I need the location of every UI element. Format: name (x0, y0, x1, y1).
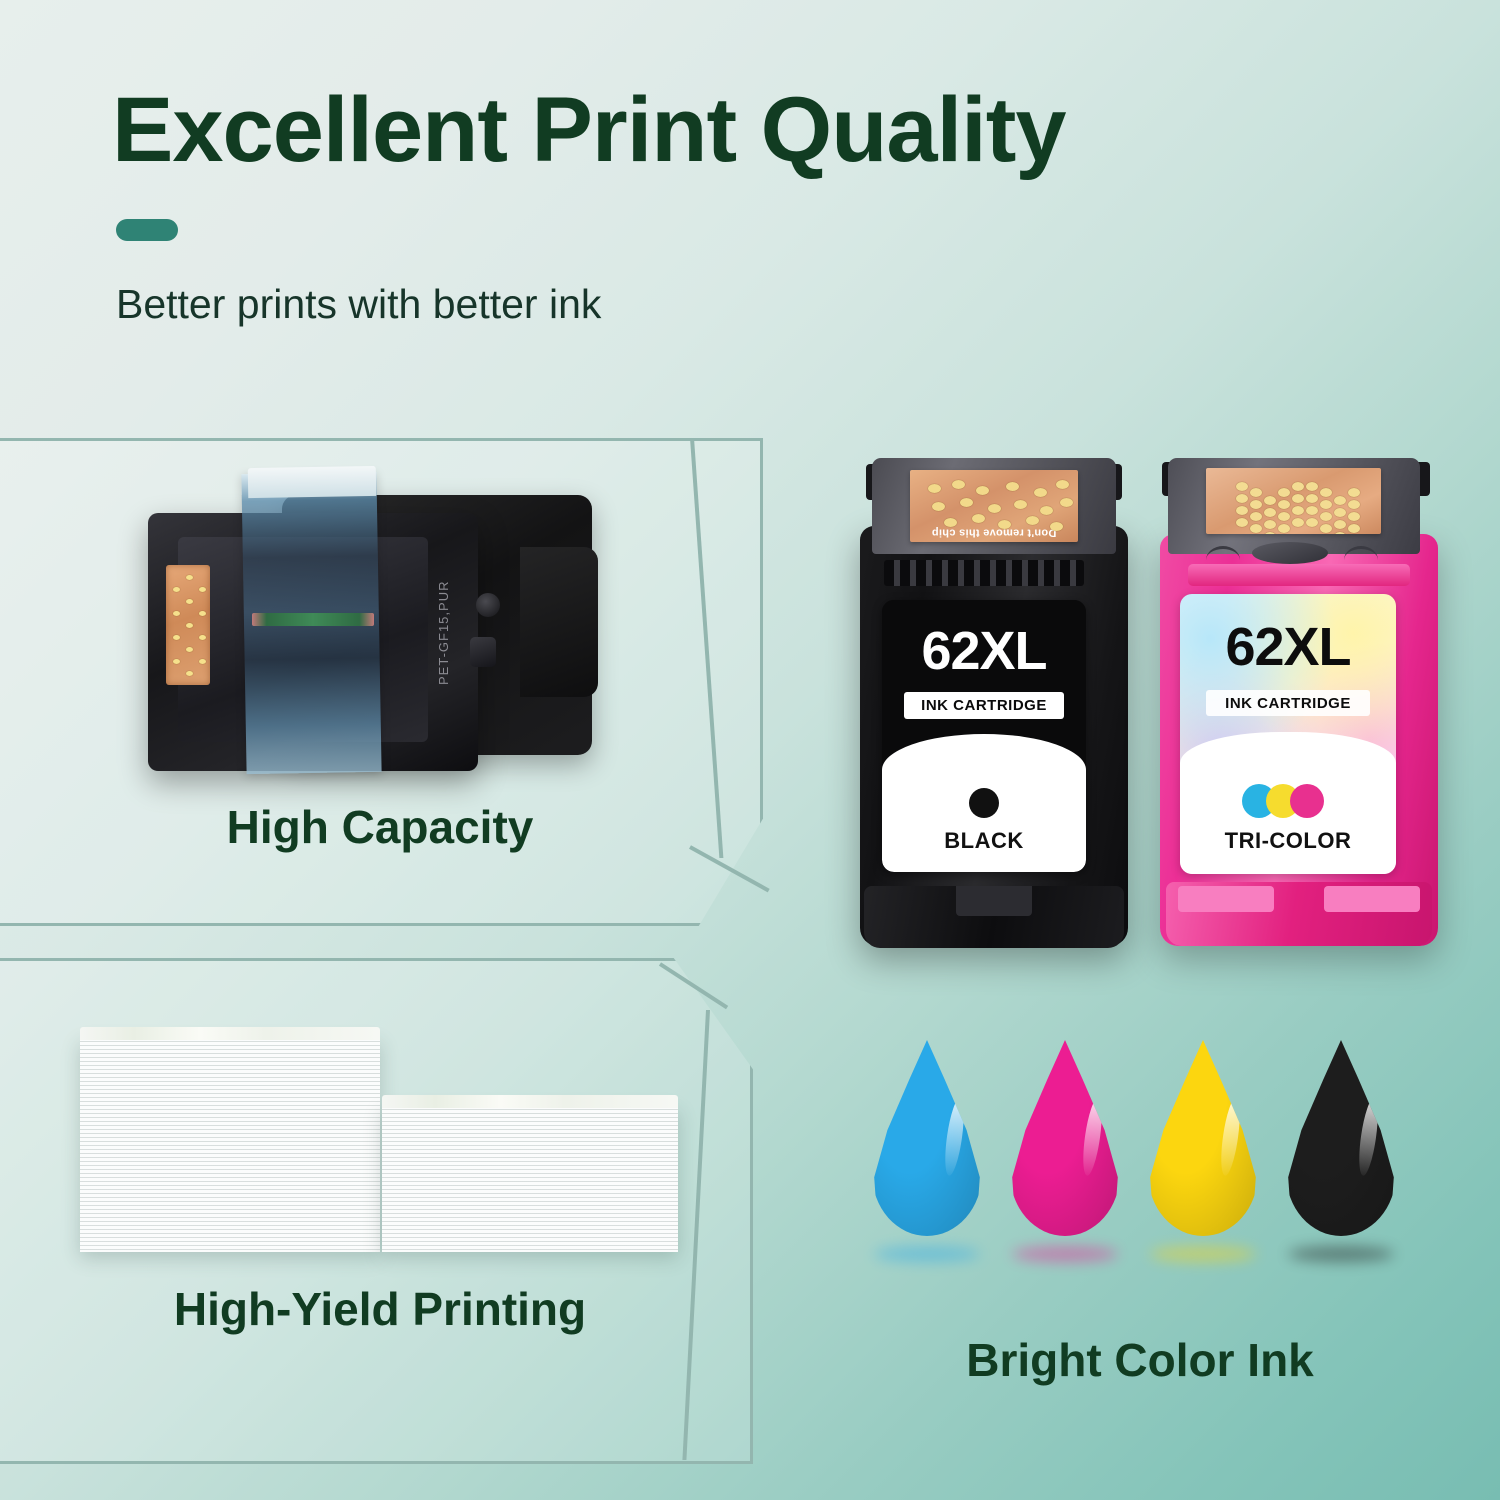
droplet-shape (1286, 1040, 1396, 1236)
chip-contact-pad (1034, 488, 1047, 497)
droplet-black (1282, 1040, 1400, 1290)
label-color-name: TRI-COLOR (1180, 828, 1396, 854)
chip-contact-pad (1264, 520, 1276, 529)
chip-contact-pad (1236, 494, 1248, 503)
paper-stacks-illustration (70, 1030, 690, 1252)
cartridge-tricolor-label: 62XL INK CARTRIDGE TRI-COLOR (1180, 594, 1396, 874)
cartridge-chip-icon (166, 565, 210, 685)
accent-dash (116, 219, 178, 241)
droplet-shadow (1288, 1246, 1394, 1262)
chip-contact-pad (1014, 500, 1027, 509)
page-subtitle: Better prints with better ink (116, 281, 601, 328)
label-model-number: 62XL (882, 620, 1086, 682)
chip-contact-pad (186, 671, 193, 676)
cartridge-black-chip-icon: Don't remove this chip (910, 470, 1078, 542)
paper-stack-large (80, 1038, 380, 1252)
chip-contact-pad (199, 659, 206, 664)
chip-contact-pad (1026, 516, 1039, 525)
chip-contact-pad (1060, 498, 1073, 507)
chip-contact-pad (1292, 494, 1304, 503)
chip-contact-pad (186, 599, 193, 604)
droplet-shape (1010, 1040, 1120, 1236)
droplet-magenta (1006, 1040, 1124, 1290)
chip-contact-pad (988, 504, 1001, 513)
droplet-shadow (1150, 1246, 1256, 1262)
caption-high-yield: High-Yield Printing (0, 1282, 760, 1336)
chip-contact-pad (1056, 480, 1069, 489)
chip-contact-pad (952, 480, 965, 489)
chip-contact-pad (1278, 512, 1290, 521)
page-title: Excellent Print Quality (112, 84, 1066, 176)
chip-contact-pad (186, 647, 193, 652)
chip-contact-pad (1320, 512, 1332, 521)
chip-contact-pad (1348, 524, 1360, 533)
molding-text: PET-GF15,PUR (436, 545, 456, 685)
chip-contact-pad (944, 518, 957, 527)
chip-contact-pad (998, 520, 1011, 529)
chip-contact-pad (1334, 496, 1346, 505)
chip-contact-pad (1236, 506, 1248, 515)
chip-contact-pad (1348, 512, 1360, 521)
chip-contact-pad (1292, 518, 1304, 527)
droplet-shadow (1012, 1246, 1118, 1262)
paper-stack-edges (80, 1038, 380, 1252)
chip-contact-pad (1278, 524, 1290, 533)
chip-contact-pad (1040, 506, 1053, 515)
cartridge-rear-tab (520, 547, 598, 697)
chip-contact-pad (1264, 508, 1276, 517)
chip-contact-pad (1306, 506, 1318, 515)
droplet-yellow (1144, 1040, 1262, 1290)
cartridge-tricolor-base-grip-right (1324, 886, 1420, 912)
chip-contact-pad (199, 587, 206, 592)
droplet-gloss (1356, 1097, 1382, 1176)
chip-contact-pad (1348, 488, 1360, 497)
label-subtitle: INK CARTRIDGE (904, 692, 1064, 719)
chip-contact-pad (1250, 500, 1262, 509)
paper-stack-edges (382, 1106, 678, 1252)
header: Excellent Print Quality Better prints wi… (0, 0, 1500, 430)
chip-contact-pad (1306, 518, 1318, 527)
chip-contact-pad (173, 635, 180, 640)
cartridge-latch (470, 637, 496, 667)
chip-contact-pad (1292, 506, 1304, 515)
chip-contact-pad (1250, 488, 1262, 497)
chip-contact-pad (1320, 488, 1332, 497)
cartridge-tricolor-nozzle-plate (1252, 542, 1328, 564)
product-feature-graphic: Excellent Print Quality Better prints wi… (0, 0, 1500, 1500)
label-subtitle: INK CARTRIDGE (1206, 690, 1370, 716)
droplet-shape (872, 1040, 982, 1236)
chip-contact-pad (1264, 496, 1276, 505)
protective-tape-pulltab (248, 466, 377, 498)
chip-contact-pad (1050, 522, 1063, 531)
chip-contact-pad (976, 486, 989, 495)
chip-contact-pad (1250, 524, 1262, 533)
droplet-shape (1148, 1040, 1258, 1236)
cartridge-black: Don't remove this chip 62XL INK CARTRIDG… (848, 448, 1138, 953)
chip-contact-pad (1250, 512, 1262, 521)
chip-contact-pad (1334, 532, 1346, 534)
chip-contact-pad (199, 611, 206, 616)
cartridge-vent-hole (476, 593, 500, 617)
cartridge-photo-high-capacity: PET-GF15,PUR (140, 485, 610, 785)
chip-contact-pad (1334, 508, 1346, 517)
paper-stack-small (382, 1106, 678, 1252)
chip-contact-pad (1006, 482, 1019, 491)
chip-contact-pad (1236, 482, 1248, 491)
cartridge-black-label: 62XL INK CARTRIDGE BLACK (882, 600, 1086, 872)
chip-contact-pad (1292, 482, 1304, 491)
label-model-number: 62XL (1180, 616, 1396, 678)
chip-contact-pad (1306, 494, 1318, 503)
chip-contact-pad (186, 575, 193, 580)
cartridge-tricolor-ridge (1188, 564, 1410, 586)
chip-contact-pad (1320, 500, 1332, 509)
label-color-name: BLACK (882, 828, 1086, 854)
chip-contact-pad (1278, 488, 1290, 497)
chip-contact-pad (1348, 500, 1360, 509)
chip-contact-pad (199, 635, 206, 640)
cartridge-tricolor: 62XL INK CARTRIDGE TRI-COLOR (1148, 442, 1448, 954)
chip-contact-pad (1236, 518, 1248, 527)
chip-contact-pad (173, 659, 180, 664)
chip-contact-pad (1306, 482, 1318, 491)
chip-contact-pad (928, 484, 941, 493)
chip-contact-pad (932, 502, 945, 511)
chip-contact-pad (1320, 524, 1332, 533)
chip-contact-pad (1334, 520, 1346, 529)
chip-contact-pad (1278, 500, 1290, 509)
droplet-gloss (942, 1097, 968, 1176)
printhead-nozzle-strip (252, 613, 374, 626)
chip-contact-pad (173, 587, 180, 592)
cartridge-black-grille (884, 560, 1084, 586)
droplet-gloss (1218, 1097, 1244, 1176)
chip-contact-pad (186, 623, 193, 628)
cartridge-pair: Don't remove this chip 62XL INK CARTRIDG… (848, 430, 1448, 950)
caption-bright-color: Bright Color Ink (860, 1333, 1420, 1387)
cartridge-black-base-notch (956, 886, 1032, 916)
cartridge-tricolor-chip-icon (1206, 468, 1381, 534)
label-color-swatch (969, 788, 999, 818)
caption-high-capacity: High Capacity (0, 800, 760, 854)
cartridge-tricolor-base-grip-left (1178, 886, 1274, 912)
droplet-shadow (874, 1246, 980, 1262)
chip-contact-pad (960, 498, 973, 507)
chip-contact-pad (173, 611, 180, 616)
label-swatch-magenta (1290, 784, 1324, 818)
chip-contact-pad (972, 514, 985, 523)
droplet-gloss (1080, 1097, 1106, 1176)
droplet-cyan (868, 1040, 986, 1290)
chip-contact-pad (1264, 532, 1276, 534)
ink-droplets (868, 1040, 1408, 1290)
